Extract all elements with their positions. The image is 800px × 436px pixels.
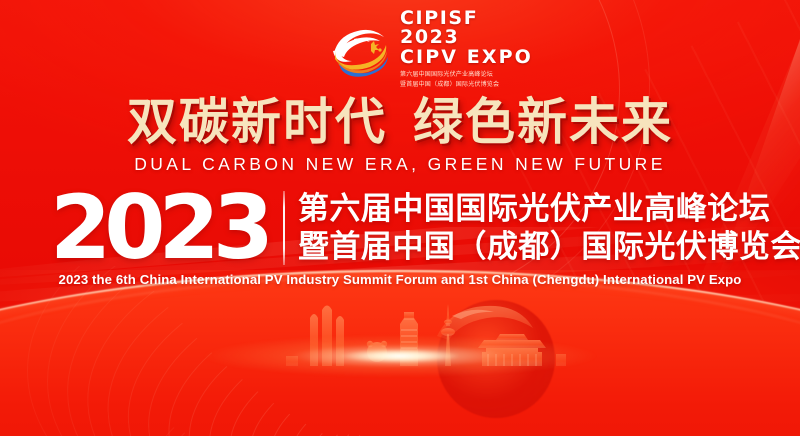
title-block: 2023 第六届中国国际光伏产业高峰论坛 暨首届中国（成都）国际光伏博览会 (50, 186, 760, 270)
logo-chinese-line-2: 暨首届中国（成都）国际光伏博览会 (400, 81, 535, 90)
headline-chinese: 双碳新时代绿色新未来 (127, 96, 673, 149)
headline-english: DUAL CARBON NEW ERA, GREEN NEW FUTURE (0, 154, 800, 175)
cipisf-globe-emblem-icon (330, 17, 392, 77)
light-trail-arcs (0, 266, 800, 436)
title-chinese-lines: 第六届中国国际光伏产业高峰论坛 暨首届中国（成都）国际光伏博览会 (298, 192, 800, 264)
logo-line-cipv-expo: CIPV EXPO (400, 48, 535, 67)
title-divider (283, 191, 285, 265)
title-chinese-line-2: 暨首届中国（成都）国际光伏博览会 (298, 230, 800, 265)
subtitle-english: 2023 the 6th China International PV Indu… (0, 272, 800, 287)
event-logo: CIPISF 2023 CIPV EXPO 第六届中国国际光伏产业高峰论坛 暨首… (330, 12, 535, 82)
year-2023: 2023 (50, 190, 271, 266)
logo-line-cipisf: CIPISF 2023 (400, 9, 535, 47)
headline-chinese-part-2: 绿色新未来 (413, 93, 673, 151)
event-banner: CIPISF 2023 CIPV EXPO 第六届中国国际光伏产业高峰论坛 暨首… (0, 0, 800, 436)
title-chinese-line-1: 第六届中国国际光伏产业高峰论坛 (298, 192, 800, 227)
headline-block: 双碳新时代绿色新未来 DUAL CARBON NEW ERA, GREEN NE… (0, 96, 800, 175)
logo-chinese-line-1: 第六届中国国际光伏产业高峰论坛 (400, 71, 535, 80)
headline-chinese-part-1: 双碳新时代 (127, 93, 387, 151)
